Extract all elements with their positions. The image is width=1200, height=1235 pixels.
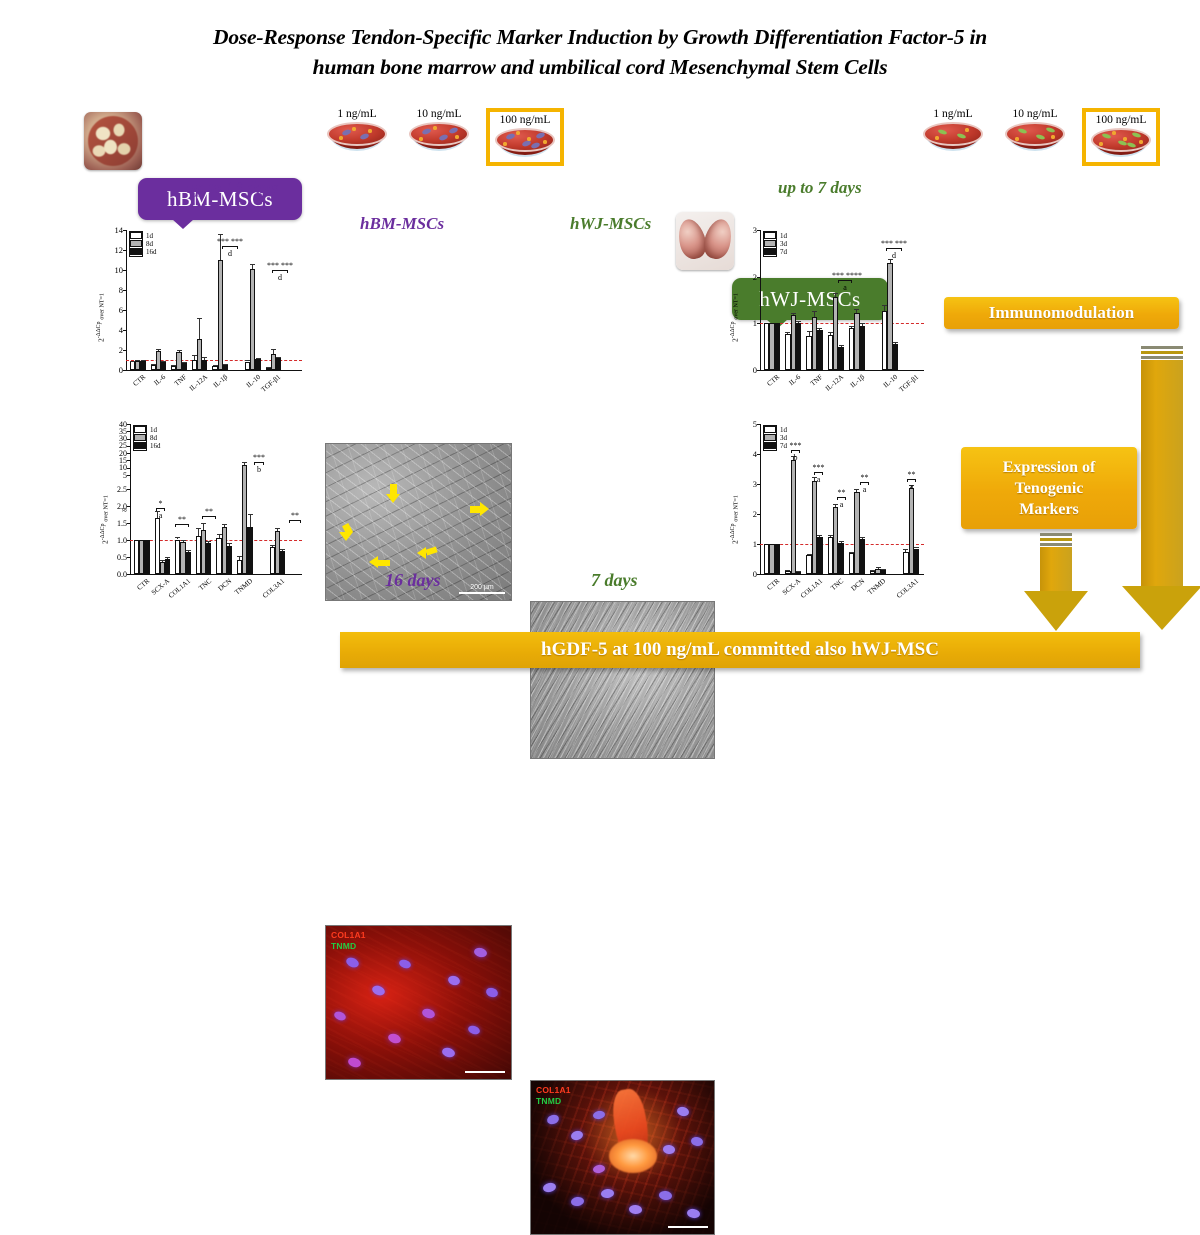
error-bar-cap [893, 342, 898, 343]
significance-bracket [289, 520, 301, 523]
significance-stars: ** [196, 507, 222, 516]
legend-swatch [764, 240, 776, 247]
hbm-dose-10-label: 10 ng/mL [404, 108, 474, 120]
y-axis [760, 230, 761, 370]
y-tick-label: 12 [104, 245, 123, 255]
bar [817, 537, 822, 574]
y-tick-mark [123, 270, 126, 271]
y-tick-label: 0 [738, 365, 757, 375]
y-tick-mark [757, 424, 760, 425]
significance-stars: *** [248, 453, 270, 462]
reference-line-nt1 [760, 323, 924, 324]
error-bar-cap [860, 323, 865, 324]
y-axis [130, 424, 131, 574]
fluorescence-image-hwj: COL1A1 TNMD [530, 1080, 715, 1235]
y-tick-mark [757, 454, 760, 455]
title-line-1: Dose-Response Tendon-Specific Marker Ind… [0, 22, 1200, 52]
y-tick-label: 4 [104, 325, 123, 335]
y-tick-label: 14 [104, 225, 123, 235]
error-bar [250, 514, 251, 528]
y-axis [760, 424, 761, 574]
legend-swatch [130, 240, 142, 247]
error-bar-cap [175, 537, 180, 538]
bar [250, 269, 255, 371]
significance-stars: ** [831, 488, 852, 497]
bar [775, 323, 780, 370]
chart-hbm-tenogenic: 0.00.51.01.52.02.5510152025303540≈2-ΔΔCp… [96, 412, 311, 610]
legend-label: 8d [146, 240, 153, 248]
y-tick-mark [123, 290, 126, 291]
legend-swatch [764, 434, 776, 441]
y-tick-label: 0 [104, 365, 123, 375]
y-tick-label: 1 [738, 539, 757, 549]
y-tick-mark [127, 523, 130, 524]
error-bar-cap [817, 328, 822, 329]
bar [140, 361, 145, 371]
bar [186, 552, 191, 574]
y-tick-label: 6 [104, 305, 123, 315]
y-axis-label: 2-ΔΔCp over NT=1 [100, 495, 110, 544]
error-bar-cap [165, 557, 170, 558]
hbm-dose-1-label: 1 ng/mL [322, 108, 392, 120]
error-bar-cap [276, 357, 281, 358]
error-bar-cap [223, 364, 228, 365]
petri-dish-icon [495, 128, 555, 158]
legend-label: 7d [780, 248, 787, 256]
hwj-duration-label: up to 7 days [778, 178, 862, 198]
error-bar-cap [206, 541, 211, 542]
error-bar-cap [201, 523, 206, 524]
y-axis-label: 2-ΔΔCp over NT=1 [730, 495, 740, 544]
y-tick-label: 0.0 [106, 570, 127, 579]
x-tick-label: COL3A1 [254, 577, 287, 606]
fluorescence-image-hbm: COL1A1 TNMD [325, 925, 512, 1080]
y-tick-label: 0.5 [106, 553, 127, 562]
error-bar-cap [796, 321, 801, 322]
error-bar-cap [156, 349, 161, 350]
significance-letter: a [901, 482, 922, 491]
y-tick-mark [127, 506, 130, 507]
significance-stars: ** [901, 470, 922, 479]
error-bar-cap [248, 514, 253, 515]
legend-label: 1d [150, 426, 157, 434]
error-bar-cap [182, 362, 187, 363]
y-tick-label: 40 [106, 420, 127, 429]
bar [860, 539, 865, 574]
error-bar-cap [161, 361, 166, 362]
chart-hwj-immunomodulation: 01232-ΔΔCp over NT=1CTRIL-6TNFIL-12AIL-1… [732, 218, 932, 406]
title-line-2: human bone marrow and umbilical cord Mes… [0, 52, 1200, 82]
significance-stars: *** *** [266, 261, 294, 270]
y-tick-mark [127, 574, 130, 575]
error-bar-cap [271, 349, 276, 350]
error-bar-cap [250, 264, 255, 265]
chart-hbm-immunomodulation: 024681012142-ΔΔCp over NT=1CTRIL-6TNFIL-… [96, 218, 311, 406]
y-tick-mark [757, 574, 760, 575]
significance-bracket [202, 516, 216, 519]
y-tick-label: 0 [738, 569, 757, 579]
bar [161, 362, 166, 370]
callout-tenogenic-line-1: Expression of [1003, 457, 1096, 478]
petri-dish-icon [327, 122, 387, 152]
conclusion-banner: hGDF-5 at 100 ng/mL committed also hWJ-M… [340, 632, 1140, 668]
petri-dish-icon [409, 122, 469, 152]
bar [227, 546, 232, 574]
y-tick-label: 5 [738, 419, 757, 429]
y-tick-mark [127, 453, 130, 454]
y-tick-label: 2.5 [106, 485, 127, 494]
y-tick-label: 1 [738, 318, 757, 328]
bar [223, 365, 228, 370]
callout-immunomodulation-label: Immunomodulation [989, 303, 1134, 323]
y-axis [126, 230, 127, 370]
phase-contrast-image-hwj [530, 601, 715, 759]
legend-swatch [130, 232, 142, 239]
y-tick-mark [757, 484, 760, 485]
error-bar-cap [186, 550, 191, 551]
significance-letter: d [880, 251, 908, 260]
legend-label: 1d [146, 232, 153, 240]
bar [202, 360, 207, 370]
fluo-caption-hwj: 7 days [591, 570, 638, 591]
bar [206, 543, 211, 574]
significance-stars: *** **** [832, 271, 858, 280]
y-tick-label: 2 [738, 272, 757, 282]
y-axis-label: 2-ΔΔCp over NT=1 [730, 293, 740, 342]
x-axis [126, 370, 302, 371]
error-bar-cap [854, 309, 859, 310]
fluo-marker-col1a1-hwj: COL1A1 [536, 1085, 571, 1095]
callout-tenogenic-line-3: Markers [1019, 499, 1079, 520]
legend-swatch [764, 426, 776, 433]
bar [838, 347, 843, 370]
bar [144, 540, 149, 574]
scalebar-hbm: 200 µm [459, 584, 505, 594]
error-bar-cap [812, 311, 817, 312]
down-arrow-large-icon [1132, 346, 1200, 631]
significance-stars: *** [808, 463, 829, 472]
petri-dish-icon [923, 122, 983, 152]
micrograph-heading-hwj: hWJ-MSCs [570, 214, 651, 234]
error-bar-cap [796, 571, 801, 572]
down-arrow-small-icon [1028, 533, 1090, 631]
y-tick-mark [757, 370, 760, 371]
y-tick-label: 8 [104, 285, 123, 295]
bar [791, 460, 796, 574]
legend-swatch [764, 232, 776, 239]
bar [247, 527, 252, 574]
error-bar-cap [860, 537, 865, 538]
error-bar-cap [196, 528, 201, 529]
page-title: Dose-Response Tendon-Specific Marker Ind… [0, 22, 1200, 82]
y-tick-mark [127, 439, 130, 440]
bar [165, 559, 170, 574]
significance-stars: ** [169, 515, 195, 524]
scalebar-hbm-label: 200 µm [470, 584, 494, 591]
bar [881, 570, 886, 574]
callout-immunomodulation: Immunomodulation [944, 297, 1179, 329]
significance-letter: b [785, 453, 806, 462]
hbm-dose-10[interactable]: 10 ng/mL [404, 108, 474, 152]
y-tick-mark [127, 489, 130, 490]
y-tick-mark [127, 460, 130, 461]
hwj-dose-10[interactable]: 10 ng/mL [1000, 108, 1070, 152]
petri-dish-icon [1091, 128, 1151, 158]
hbm-dose-group: 1 ng/mL 10 ng/mL 10 [322, 108, 564, 166]
fluo-caption-hbm: 16 days [385, 570, 441, 591]
significance-stars: *** [785, 441, 806, 450]
y-tick-mark [127, 446, 130, 447]
chart-hwj-tenogenic: 0123452-ΔΔCp over NT=1CTRSCX-ACOL1A1TNCD… [732, 412, 932, 610]
fluo-marker-col1a1-hbm: COL1A1 [331, 930, 366, 940]
bone-marrow-photo-thumbnail [84, 112, 142, 170]
significance-letter: d [216, 249, 244, 258]
y-tick-mark [123, 230, 126, 231]
legend-swatch [134, 434, 146, 441]
error-bar-cap [833, 293, 838, 294]
callout-tenogenic-line-2: Tenogenic [1015, 478, 1084, 499]
legend-label: 8d [150, 434, 157, 442]
y-tick-mark [127, 431, 130, 432]
error-bar-cap [839, 541, 844, 542]
bar [775, 544, 780, 574]
y-tick-label: 2 [104, 345, 123, 355]
hwj-dose-1[interactable]: 1 ng/mL [918, 108, 988, 152]
legend-label: 16d [150, 442, 161, 450]
hbm-dose-1[interactable]: 1 ng/mL [322, 108, 392, 152]
y-tick-mark [123, 350, 126, 351]
significance-letter: a [808, 475, 829, 484]
significance-stars: ** [283, 511, 307, 520]
x-axis [760, 370, 924, 371]
legend-swatch [130, 248, 142, 255]
hbm-dose-100-highlighted[interactable]: 100 ng/mL [486, 108, 564, 166]
error-bar-cap [275, 528, 280, 529]
y-axis-label: 2-ΔΔCp over NT=1 [96, 293, 106, 342]
significance-stars: ** [854, 473, 875, 482]
bar [796, 323, 801, 370]
x-tick-label: COL3A1 [888, 577, 921, 606]
significance-letter: a [854, 485, 875, 494]
bar [182, 363, 187, 370]
legend-swatch [134, 442, 146, 449]
bar [817, 330, 822, 370]
hwj-dose-group: 1 ng/mL 10 ng/mL 100 ng/mL [918, 108, 1160, 166]
error-bar [198, 528, 199, 536]
y-tick-mark [123, 370, 126, 371]
hwj-dose-1-label: 1 ng/mL [918, 108, 988, 120]
hwj-dose-100-label: 100 ng/mL [1086, 114, 1156, 126]
umbilical-cord-photo-thumbnail [676, 212, 734, 270]
error-bar-cap [141, 360, 146, 361]
bar [255, 359, 260, 370]
significance-stars: *** *** [216, 237, 244, 246]
legend-swatch [764, 442, 776, 449]
petri-dish-icon [1005, 122, 1065, 152]
y-tick-label: 3 [738, 225, 757, 235]
error-bar [199, 318, 200, 339]
legend-swatch [764, 248, 776, 255]
bar [914, 549, 919, 575]
y-tick-label: 4 [738, 449, 757, 459]
bar [276, 358, 281, 370]
y-tick-label: 10 [104, 265, 123, 275]
axis-break-marker: ≈ [122, 505, 127, 515]
y-tick-mark [127, 557, 130, 558]
error-bar-cap [177, 350, 182, 351]
hbm-duration-label: up to 16 days [186, 178, 278, 198]
bar [280, 551, 285, 574]
scalebar-fluo-hbm [465, 1070, 505, 1073]
error-bar-cap [839, 345, 844, 346]
legend-label: 1d [780, 232, 787, 240]
bar [860, 326, 865, 370]
significance-letter: d [266, 273, 294, 282]
error-bar-cap [202, 357, 207, 358]
hbm-dose-100-label: 100 ng/mL [490, 114, 560, 126]
error-bar-cap [280, 549, 285, 550]
significance-letter: a [150, 511, 171, 520]
x-axis [760, 574, 924, 575]
y-tick-mark [123, 310, 126, 311]
legend-label: 3d [780, 240, 787, 248]
x-axis [130, 574, 302, 575]
y-tick-label: 2 [738, 509, 757, 519]
y-tick-mark [127, 468, 130, 469]
significance-letter: a [831, 500, 852, 509]
error-bar-cap [881, 569, 886, 570]
legend-swatch [134, 426, 146, 433]
micrograph-heading-hbm: hBM-MSCs [360, 214, 444, 234]
error-bar-cap [256, 358, 261, 359]
error-bar-cap [914, 547, 919, 548]
error-bar-cap [227, 543, 232, 544]
error-bar-cap [791, 313, 796, 314]
significance-letter: b [248, 465, 270, 474]
fluo-marker-tnmd-hbm: TNMD [331, 941, 356, 951]
error-bar-cap [242, 462, 247, 463]
y-tick-mark [123, 330, 126, 331]
error-bar-cap [197, 318, 202, 319]
significance-stars: *** *** [880, 239, 908, 248]
bar [838, 543, 843, 574]
y-tick-label: 3 [738, 479, 757, 489]
conclusion-banner-label: hGDF-5 at 100 ng/mL committed also hWJ-M… [541, 639, 939, 661]
callout-tenogenic-markers: Expression of Tenogenic Markers [961, 447, 1137, 529]
significance-bracket [175, 524, 189, 527]
error-bar-cap [817, 535, 822, 536]
y-tick-mark [127, 475, 130, 476]
y-tick-mark [123, 250, 126, 251]
error-bar-cap [218, 234, 223, 235]
hwj-dose-10-label: 10 ng/mL [1000, 108, 1070, 120]
error-bar-cap [876, 567, 881, 568]
y-tick-mark [757, 514, 760, 515]
bar [893, 344, 898, 370]
fluo-marker-tnmd-hwj: TNMD [536, 1096, 561, 1106]
scalebar-fluo-hwj [668, 1225, 708, 1228]
bar [218, 260, 223, 370]
y-tick-mark [757, 277, 760, 278]
y-tick-mark [127, 424, 130, 425]
hwj-dose-100-highlighted[interactable]: 100 ng/mL [1082, 108, 1160, 166]
significance-letter: a [832, 283, 858, 292]
error-bar-cap [181, 540, 186, 541]
legend-label: 1d [780, 426, 787, 434]
error-bar [203, 523, 204, 530]
bar [796, 572, 801, 574]
legend-label: 16d [146, 248, 157, 256]
y-tick-mark [757, 230, 760, 231]
significance-stars: * [150, 499, 171, 508]
error-bar-cap [222, 524, 227, 525]
